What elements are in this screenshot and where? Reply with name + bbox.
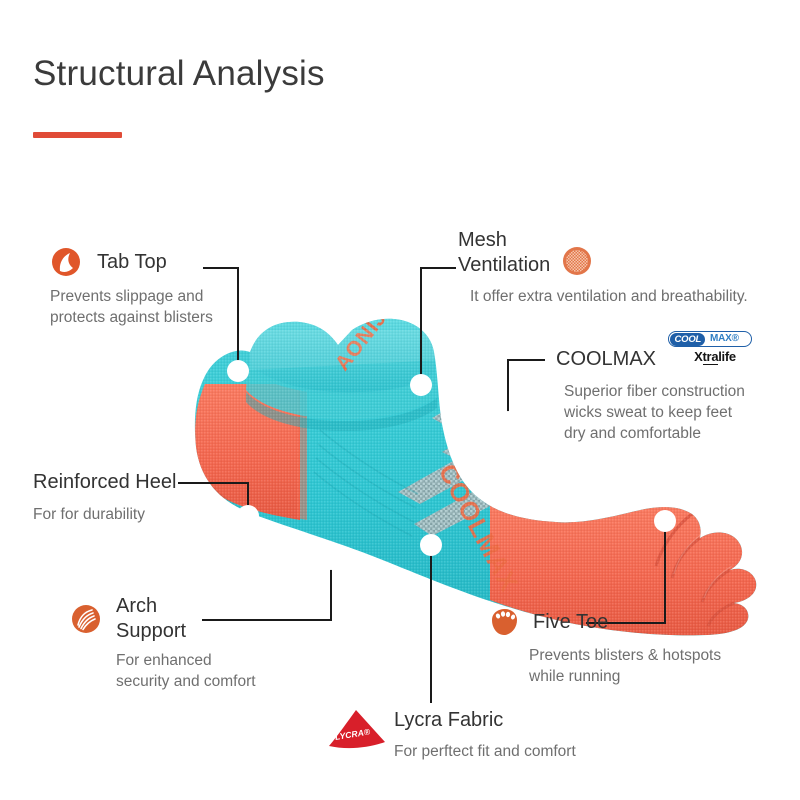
coolmax-sub-text: Xtralife	[678, 349, 752, 364]
gray-stripes	[470, 368, 546, 472]
infographic-canvas: Structural Analysis	[0, 0, 800, 800]
callout-title-five-toe: Five Toe	[533, 610, 608, 635]
callout-title-arch: Arch Support	[116, 594, 216, 644]
callout-desc-tab-top: Prevents slippage and protects against b…	[50, 286, 213, 328]
callout-desc-five-toe: Prevents blisters & hotspots while runni…	[529, 645, 721, 687]
callout-title-coolmax: COOLMAX	[556, 348, 656, 370]
callout-desc-heel: For for durability	[33, 504, 176, 525]
callout-title-heel: Reinforced Heel	[33, 471, 176, 493]
callout-lycra-fabric: Lycra Fabric For perftect fit and comfor…	[394, 708, 576, 762]
callout-desc-mesh: It offer extra ventilation and breathabi…	[470, 286, 748, 307]
coolmax-pill-text-right: MAX®	[710, 332, 739, 346]
arch-support-icon	[70, 603, 102, 635]
callout-title-lycra: Lycra Fabric	[394, 709, 503, 731]
callout-desc-coolmax: Superior fiber construction wicks sweat …	[564, 381, 745, 444]
tab-top-icon	[50, 246, 82, 278]
callout-reinforced-heel: Reinforced Heel For for durability	[33, 470, 176, 525]
callout-arch-support: Arch Support For enhanced security and c…	[70, 594, 256, 692]
mesh-circle-icon	[562, 246, 592, 276]
callout-tab-top: Tab Top Prevents slippage and protects a…	[50, 246, 213, 328]
callout-desc-lycra: For perftect fit and comfort	[394, 741, 576, 762]
lycra-logo: LYCRA®	[325, 708, 387, 756]
callout-mesh-ventilation: Mesh Ventilation It offer extra ventilat…	[458, 228, 748, 307]
callout-desc-arch: For enhanced security and comfort	[116, 650, 256, 692]
coolmax-pill-text-left: COOL	[670, 333, 706, 346]
callout-five-toe: Five Toe Prevents blisters & hotspots wh…	[489, 607, 721, 687]
coolmax-logo: COOL MAX® Xtralife	[668, 331, 752, 367]
five-toe-paw-icon	[489, 607, 519, 637]
callout-title-mesh: Mesh Ventilation	[458, 228, 568, 278]
callout-title-tab-top: Tab Top	[97, 250, 167, 275]
